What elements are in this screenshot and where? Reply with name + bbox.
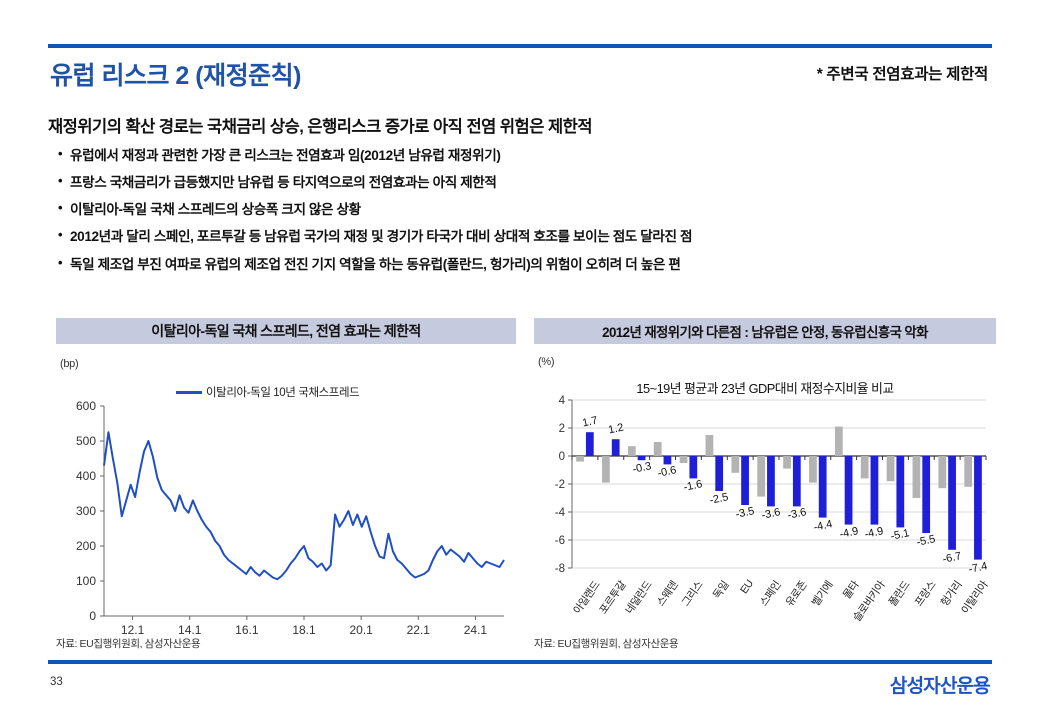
page-number: 33 [50,676,63,688]
bar-chart-ytick: -2 [555,479,565,491]
line-chart-ytick: 500 [76,434,96,448]
line-chart-legend: 이탈리아-독일 10년 국채스프레드 [176,384,359,400]
bar-avg [835,427,843,456]
bar-y2023 [922,456,930,533]
legend-swatch-spread [176,391,202,394]
line-chart-xtick: 16.1 [235,623,259,637]
header-note: * 주변국 전염효과는 제한적 [817,62,988,84]
source-left: 자료: EU집행위원회, 삼성자산운용 [56,636,200,651]
bullet-list: 유럽에서 재정과 관련한 가장 큰 리스크는 전염효과 임(2012년 남유럽 … [58,148,1000,284]
source-right: 자료: EU집행위원회, 삼성자산운용 [534,636,678,651]
bar-avg [576,456,584,462]
bar-y2023 [586,432,594,456]
line-chart-yunit: (bp) [60,358,78,370]
bar-y2023 [896,456,904,527]
bar-avg [938,456,946,488]
line-chart-ytick: 0 [89,609,96,623]
bar-y2023 [845,456,853,525]
bar-y2023 [689,456,697,478]
list-item: 2012년과 달리 스페인, 포르투갈 등 남유럽 국가의 재정 및 경기가 타… [58,229,1000,245]
line-chart-xtick: 22.1 [407,623,431,637]
top-rule [48,44,992,48]
bar-avg [654,442,662,456]
bar-y2023 [871,456,879,525]
lead-statement: 재정위기의 확산 경로는 국채금리 상승, 은행리스크 증가로 아직 전염 위험… [48,113,592,137]
legend-label-spread: 이탈리아-독일 10년 국채스프레드 [206,384,359,400]
line-chart-xtick: 14.1 [178,623,202,637]
bar-avg [602,456,610,483]
slide: 유럽 리스크 2 (재정준칙) * 주변국 전염효과는 제한적 재정위기의 확산… [0,0,1040,720]
bar-avg [680,456,688,463]
bar-y2023 [638,456,646,460]
line-chart-xtick: 24.1 [464,623,488,637]
line-series-spread [104,432,504,579]
bar-chart-ytick: 0 [559,451,565,463]
line-chart: 010020030040050060012.114.116.118.120.12… [56,344,516,644]
bar-avg [757,456,765,497]
bar-y2023 [664,456,672,464]
bar-chart-ytick: -6 [555,535,565,547]
line-chart-xtick: 20.1 [349,623,373,637]
bar-y2023 [974,456,982,560]
bar-y2023 [715,456,723,491]
list-item: 독일 제조업 부진 여파로 유럽의 제조업 전진 기지 역할을 하는 동유럽(폴… [58,257,1000,273]
bar-avg [861,456,869,478]
bar-avg [964,456,972,487]
bar-chart-ytick: -8 [555,563,565,575]
bar-chart: 420-2-4-6-8 (%) 15~19년 평균과 23년 GDP대비 재정수… [534,344,996,644]
bar-chart-ytick: -4 [555,507,566,519]
line-chart-ytick: 600 [76,399,96,413]
list-item: 유럽에서 재정과 관련한 가장 큰 리스크는 전염효과 임(2012년 남유럽 … [58,148,1000,164]
bar-avg [783,456,791,469]
bar-avg [706,435,714,456]
bar-y2023 [819,456,827,518]
bar-y2023 [793,456,801,506]
bar-y2023 [741,456,749,505]
bar-avg [809,456,817,483]
bar-y2023 [767,456,775,506]
bar-y2023 [948,456,956,550]
panel-line-chart: 이탈리아-독일 국채 스프레드, 전염 효과는 제한적 010020030040… [56,318,516,644]
line-chart-ytick: 100 [76,574,96,588]
page-title: 유럽 리스크 2 (재정준칙) [50,56,301,92]
panel-bar-chart: 2012년 재정위기와 다른점 : 남유럽은 안정, 동유럽신흥국 악화 420… [534,318,996,644]
bar-chart-subtitle: 15~19년 평균과 23년 GDP대비 재정수지비율 비교 [534,378,996,397]
line-chart-ytick: 300 [76,504,96,518]
bottom-rule [48,660,992,664]
bar-avg [887,456,895,481]
line-chart-ytick: 400 [76,469,96,483]
panel-heading-right: 2012년 재정위기와 다른점 : 남유럽은 안정, 동유럽신흥국 악화 [534,318,996,344]
bar-avg [731,456,739,473]
panel-heading-left: 이탈리아-독일 국채 스프레드, 전염 효과는 제한적 [56,318,516,344]
bar-chart-ytick: 2 [559,423,565,435]
line-chart-xtick: 12.1 [121,623,145,637]
bar-avg [628,446,636,456]
line-chart-xtick: 18.1 [292,623,316,637]
bar-chart-yunit: (%) [538,356,554,368]
list-item: 이탈리아-독일 국채 스프레드의 상승폭 크지 않은 상황 [58,202,1000,218]
line-chart-ytick: 200 [76,539,96,553]
company-logo: 삼성자산운용 [890,671,990,698]
bar-y2023 [612,439,620,456]
bar-avg [913,456,921,498]
list-item: 프랑스 국채금리가 급등했지만 남유럽 등 타지역으로의 전염효과는 아직 제한… [58,175,1000,191]
